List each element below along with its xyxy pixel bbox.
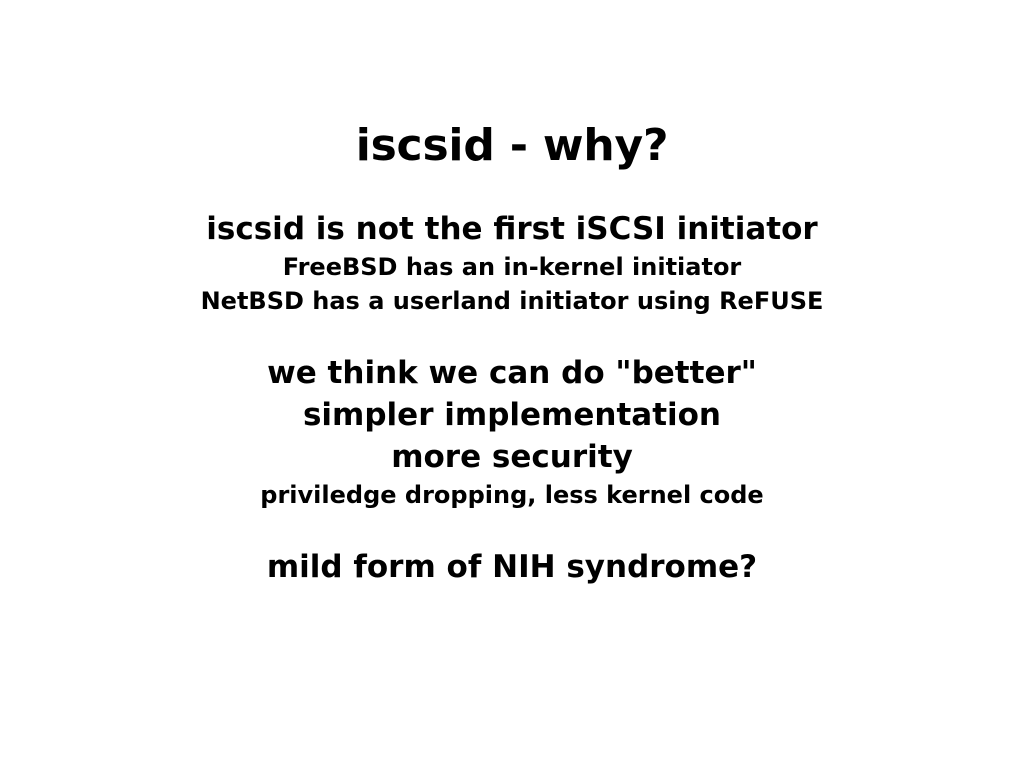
text-block: iscsid is not the first iSCSI initiator … [0,208,1024,318]
slide-line: priviledge dropping, less kernel code [0,478,1024,512]
slide-line: more security [0,436,1024,478]
text-block: mild form of NIH syndrome? [0,546,1024,588]
slide-line: we think we can do "better" [0,352,1024,394]
slide-title: iscsid - why? [0,121,1024,170]
slide-line: NetBSD has a userland initiator using Re… [0,284,1024,318]
slide-line: simpler implementation [0,394,1024,436]
slide-body: iscsid is not the first iSCSI initiator … [0,208,1024,588]
slide-line: mild form of NIH syndrome? [0,546,1024,588]
slide-line: FreeBSD has an in-kernel initiator [0,250,1024,284]
presentation-slide: iscsid - why? iscsid is not the first iS… [0,0,1024,768]
text-block: we think we can do "better" simpler impl… [0,352,1024,512]
slide-line: iscsid is not the first iSCSI initiator [0,208,1024,250]
